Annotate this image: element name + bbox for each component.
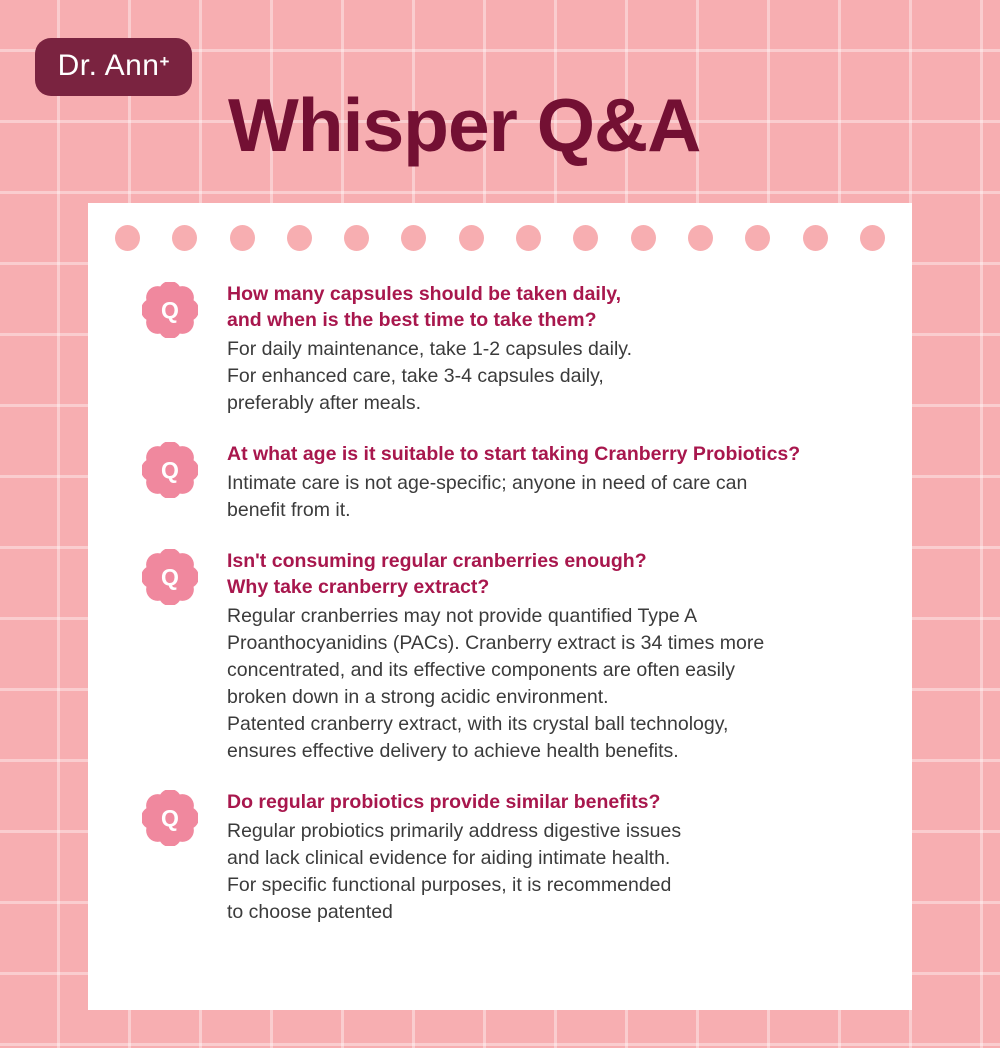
card-dot <box>230 225 255 251</box>
svg-text:Q: Q <box>161 564 179 590</box>
card-dot <box>459 225 484 251</box>
svg-text:Q: Q <box>161 805 179 831</box>
poster-canvas: Dr. Ann+ Whisper Q&A QHow many capsules … <box>0 0 1000 1048</box>
card-dot <box>344 225 369 251</box>
brand-logo-text: Dr. Ann <box>58 51 160 81</box>
card-dot <box>172 225 197 251</box>
card-dot <box>516 225 541 251</box>
brand-logo-plus: + <box>159 53 169 70</box>
svg-text:Q: Q <box>161 297 179 323</box>
flower-q-icon: Q <box>142 442 198 498</box>
card-dot <box>860 225 885 251</box>
qa-body: How many capsules should be taken daily,… <box>227 279 890 417</box>
card-dot <box>803 225 828 251</box>
qa-body: Isn't consuming regular cranberries enou… <box>227 546 890 765</box>
qa-body: At what age is it suitable to start taki… <box>227 439 890 524</box>
flower-q-icon: Q <box>142 790 198 846</box>
qa-question: At what age is it suitable to start taki… <box>227 441 890 467</box>
qa-item: QDo regular probiotics provide similar b… <box>142 787 890 926</box>
qa-item: QAt what age is it suitable to start tak… <box>142 439 890 524</box>
card-dot <box>287 225 312 251</box>
qa-answer: Intimate care is not age-specific; anyon… <box>227 470 890 524</box>
qa-question: How many capsules should be taken daily,… <box>227 281 890 333</box>
qa-item: QIsn't consuming regular cranberries eno… <box>142 546 890 765</box>
svg-text:Q: Q <box>161 457 179 483</box>
card-dot <box>631 225 656 251</box>
page-title: Whisper Q&A <box>228 88 700 163</box>
qa-answer: For daily maintenance, take 1-2 capsules… <box>227 336 890 417</box>
qa-answer: Regular cranberries may not provide quan… <box>227 603 890 765</box>
qa-card: QHow many capsules should be taken daily… <box>88 203 912 1010</box>
card-dot <box>688 225 713 251</box>
card-dot <box>401 225 426 251</box>
flower-q-icon: Q <box>142 549 198 605</box>
qa-answer: Regular probiotics primarily address dig… <box>227 818 890 926</box>
qa-body: Do regular probiotics provide similar be… <box>227 787 890 926</box>
card-dot <box>745 225 770 251</box>
qa-question: Isn't consuming regular cranberries enou… <box>227 548 890 600</box>
card-dot <box>573 225 598 251</box>
card-dot-row <box>88 225 912 253</box>
card-dot <box>115 225 140 251</box>
qa-item: QHow many capsules should be taken daily… <box>142 279 890 417</box>
brand-logo-badge: Dr. Ann+ <box>35 38 192 96</box>
flower-q-icon: Q <box>142 282 198 338</box>
qa-question: Do regular probiotics provide similar be… <box>227 789 890 815</box>
qa-list: QHow many capsules should be taken daily… <box>88 279 912 926</box>
